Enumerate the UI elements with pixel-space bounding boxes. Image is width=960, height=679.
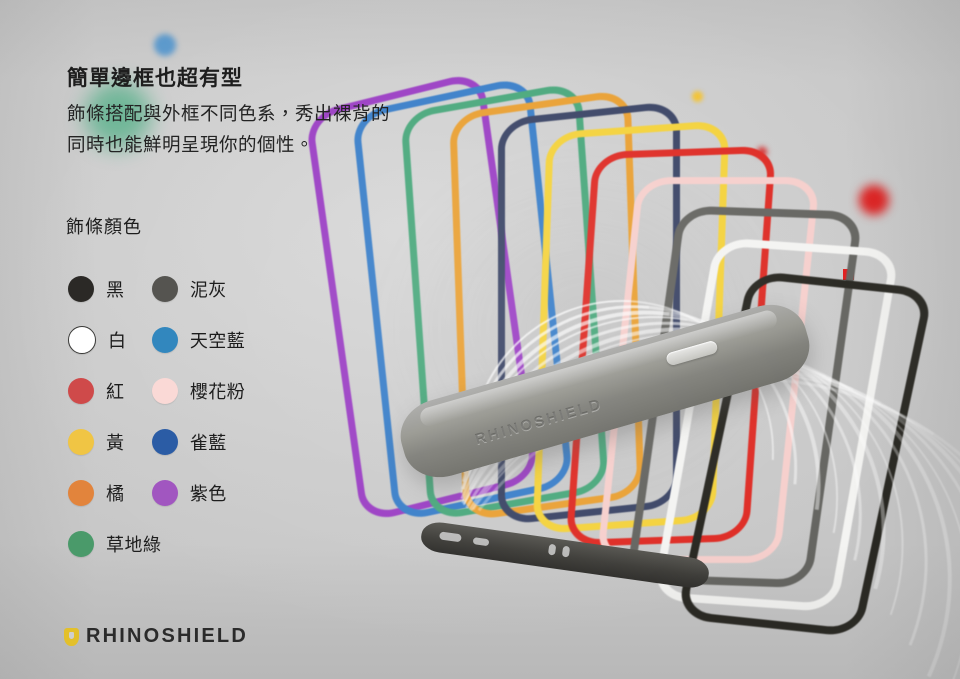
- legend-item-yellow: 黃: [68, 429, 152, 455]
- color-label-sakura-pink: 櫻花粉: [190, 378, 246, 404]
- legend-heading: 飾條顏色: [66, 213, 142, 239]
- speaker-cutout: [473, 537, 490, 546]
- legend-row: 黑泥灰: [68, 263, 298, 314]
- legend-row: 黃雀藍: [68, 416, 298, 467]
- legend-item-red: 紅: [68, 378, 152, 404]
- color-swatch-purple: [152, 480, 178, 506]
- color-swatch-black: [68, 276, 94, 302]
- page-title: 簡單邊框也超有型: [67, 62, 243, 92]
- brand-name: RHINOSHIELD: [86, 625, 248, 648]
- color-label-white: 白: [108, 327, 127, 353]
- product-marketing-image: RHINOSHIELD 簡單邊框也超有型 飾條搭配與外框不同色系，秀出裸背的同時…: [0, 0, 960, 679]
- color-swatch-red: [68, 378, 94, 404]
- color-label-peacock-blue: 雀藍: [190, 429, 227, 455]
- color-label-yellow: 黃: [106, 429, 125, 455]
- color-swatch-yellow: [68, 429, 94, 455]
- legend-row: 橘紫色: [68, 467, 298, 518]
- color-label-purple: 紫色: [190, 480, 227, 506]
- legend-item-black: 黑: [68, 276, 152, 302]
- legend-item-grass-green: 草地綠: [68, 531, 154, 557]
- port-cutout: [548, 544, 556, 556]
- legend-item-white: 白: [68, 326, 152, 354]
- legend-item-mud-grey: 泥灰: [152, 276, 298, 302]
- color-label-grass-green: 草地綠: [106, 531, 162, 557]
- legend-row: 白天空藍: [68, 314, 298, 365]
- shield-icon: [64, 628, 79, 646]
- legend-item-purple: 紫色: [152, 480, 298, 506]
- legend-item-sky-blue: 天空藍: [152, 327, 298, 353]
- legend-item-peacock-blue: 雀藍: [152, 429, 298, 455]
- color-legend: 黑泥灰白天空藍紅櫻花粉黃雀藍橘紫色草地綠: [68, 263, 298, 569]
- port-cutout: [562, 546, 570, 558]
- legend-row: 紅櫻花粉: [68, 365, 298, 416]
- legend-item-orange: 橘: [68, 480, 152, 506]
- color-swatch-orange: [68, 480, 94, 506]
- color-label-mud-grey: 泥灰: [190, 276, 227, 302]
- color-swatch-white: [68, 326, 96, 354]
- color-swatch-sky-blue: [152, 327, 178, 353]
- color-swatch-mud-grey: [152, 276, 178, 302]
- color-swatch-sakura-pink: [152, 378, 178, 404]
- speaker-cutout: [439, 531, 462, 542]
- legend-row: 草地綠: [68, 518, 298, 569]
- page-subtitle: 飾條搭配與外框不同色系，秀出裸背的同時也能鮮明呈現你的個性。: [67, 98, 397, 160]
- color-label-sky-blue: 天空藍: [190, 327, 246, 353]
- brand-logo: RHINOSHIELD: [64, 625, 248, 648]
- color-swatch-peacock-blue: [152, 429, 178, 455]
- color-label-black: 黑: [106, 276, 125, 302]
- color-label-orange: 橘: [106, 480, 125, 506]
- color-swatch-grass-green: [68, 531, 94, 557]
- legend-item-sakura-pink: 櫻花粉: [152, 378, 298, 404]
- color-label-red: 紅: [106, 378, 125, 404]
